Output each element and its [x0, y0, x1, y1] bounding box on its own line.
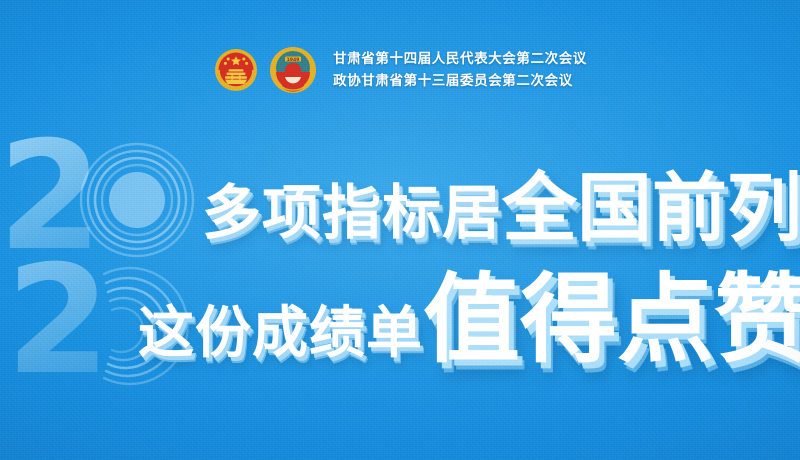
header-line-2: 政协甘肃省第十三届委员会第二次会议 [333, 71, 587, 91]
header-line-1: 甘肃省第十四届人民代表大会第二次会议 [333, 49, 587, 69]
cppcc-year-text: 1949 [287, 57, 300, 63]
headline-line-1: 多项指标居 全国前列 [0, 160, 800, 246]
cppcc-emblem-icon: 1949 [268, 44, 318, 96]
headline-line2-large: 值得点赞 [423, 271, 800, 368]
poster-canvas: 2 2 [0, 0, 800, 460]
headline-line1-small: 多项指标居 [202, 183, 502, 246]
headline-line1-large: 全国前列 [502, 171, 800, 246]
header-text-block: 甘肃省第十四届人民代表大会第二次会议 政协甘肃省第十三届委员会第二次会议 [333, 49, 587, 90]
headline-line2-small: 这份成绩单 [138, 306, 423, 368]
headline-block: 多项指标居 全国前列 这份成绩单 值得点赞 [0, 160, 800, 368]
national-emblem-of-china-icon [213, 46, 259, 94]
header: 1949 甘肃省第十四届人民代表大会第二次会议 政协甘肃省第十三届委员会第二次会… [0, 44, 800, 96]
headline-line-2: 这份成绩单 值得点赞 [0, 264, 800, 368]
